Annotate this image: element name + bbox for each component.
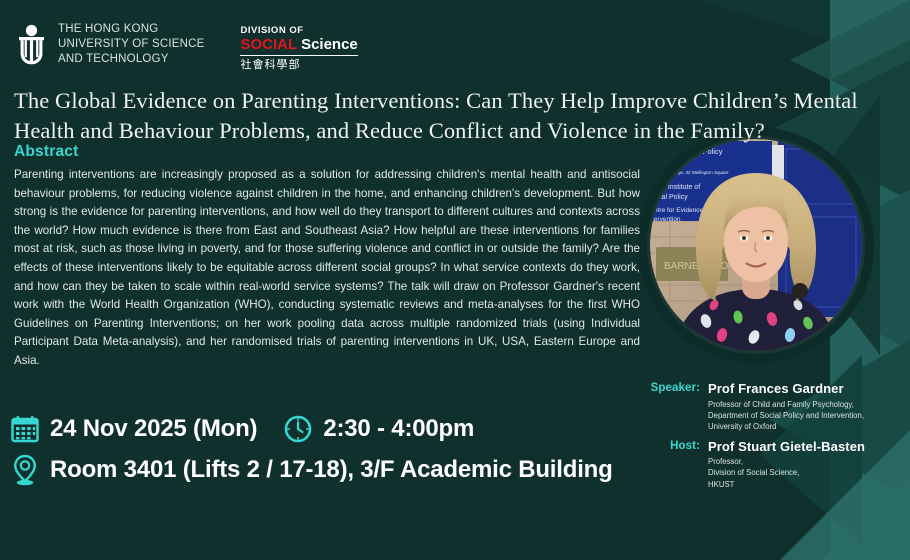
date-item: 24 Nov 2025 (Mon) [10, 414, 257, 444]
event-venue: Room 3401 (Lifts 2 / 17-18), 3/F Academi… [50, 456, 613, 484]
abstract-body: Parenting interventions are increasingly… [14, 166, 640, 371]
seminar-title: The Global Evidence on Parenting Interve… [14, 86, 898, 146]
event-time: 2:30 - 4:00pm [323, 415, 474, 443]
speaker-photo: Social Policy tion ge, 32 Wellington Squ… [650, 139, 862, 351]
venue-item: Room 3401 (Lifts 2 / 17-18), 3/F Academi… [10, 454, 613, 486]
social-word: SOCIAL [240, 36, 296, 53]
svg-text:tion: tion [670, 160, 681, 167]
calendar-icon [10, 414, 40, 444]
date-time-row: 24 Nov 2025 (Mon) 2:30 - 4:00pm [10, 414, 613, 444]
time-item: 2:30 - 4:00pm [283, 414, 474, 444]
svg-text:d Institute of: d Institute of [662, 184, 700, 191]
hkust-wordmark: THE HONG KONG UNIVERSITY OF SCIENCE AND … [58, 22, 204, 68]
location-pin-icon [10, 454, 40, 486]
division-of-label: DIVISION OF [240, 25, 357, 36]
clock-icon [283, 414, 313, 444]
svg-text:tervention: tervention [652, 216, 681, 223]
division-chinese-name: 社會科學部 [240, 58, 357, 72]
svg-text:ge, 32 Wellington Square: ge, 32 Wellington Square [678, 170, 729, 175]
event-date: 24 Nov 2025 (Mon) [50, 415, 257, 443]
svg-text:ial Policy: ial Policy [660, 194, 688, 201]
host-affiliation: Professor, Division of Social Science, H… [708, 456, 865, 489]
event-details: 24 Nov 2025 (Mon) 2:30 - 4:00pm [10, 414, 613, 496]
host-name: Prof Stuart Gietel-Basten [708, 439, 865, 455]
speaker-label: Speaker: [634, 381, 700, 394]
host-info: Prof Stuart Gietel-Basten Professor, Div… [700, 439, 865, 490]
speaker-portrait-image: Social Policy tion ge, 32 Wellington Squ… [650, 139, 862, 351]
hkust-logo: THE HONG KONG UNIVERSITY OF SCIENCE AND … [14, 22, 204, 68]
people-block: Speaker: Prof Frances Gardner Professor … [634, 381, 910, 497]
social-science-wordmark: SOCIAL Science [240, 36, 357, 55]
venue-row: Room 3401 (Lifts 2 / 17-18), 3/F Academi… [10, 454, 613, 486]
hkust-emblem-icon [14, 24, 49, 66]
svg-text:Social Policy: Social Policy [680, 147, 723, 156]
division-social-science-logo: DIVISION OF SOCIAL Science 社會科學部 [240, 22, 357, 72]
seminar-poster: THE HONG KONG UNIVERSITY OF SCIENCE AND … [0, 0, 910, 560]
speaker-info: Prof Frances Gardner Professor of Child … [700, 381, 864, 432]
host-label: Host: [634, 439, 700, 452]
speaker-entry: Speaker: Prof Frances Gardner Professor … [634, 381, 910, 432]
host-entry: Host: Prof Stuart Gietel-Basten Professo… [634, 439, 910, 490]
abstract-heading: Abstract [14, 143, 78, 161]
logo-bar: THE HONG KONG UNIVERSITY OF SCIENCE AND … [14, 22, 358, 72]
science-word: Science [301, 36, 358, 53]
speaker-name: Prof Frances Gardner [708, 381, 864, 397]
speaker-affiliation: Professor of Child and Family Psychology… [708, 399, 864, 432]
